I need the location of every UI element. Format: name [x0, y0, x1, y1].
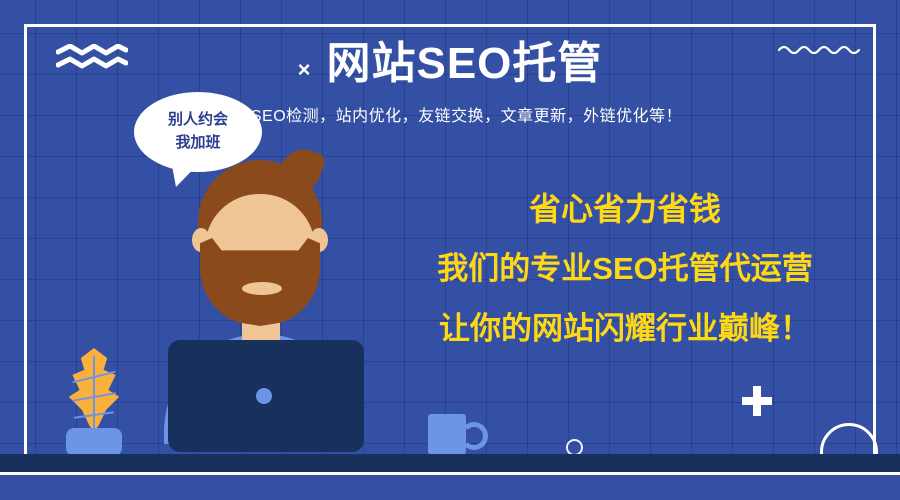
page-title: 网站SEO托管 — [326, 40, 602, 88]
plus-icon — [742, 386, 772, 416]
seo-hosting-banner: × 网站SEO托管 含：SEO检测，站内优化，友链交换，文章更新，外链优化等！ … — [0, 0, 900, 500]
plant-pot — [66, 428, 122, 456]
coffee-mug-handle — [460, 422, 488, 450]
potted-plant — [54, 348, 134, 456]
copy-line-1: 省心省力省钱 — [385, 190, 865, 228]
laptop-logo-dot — [256, 388, 272, 404]
speech-bubble-line-2: 我加班 — [134, 131, 262, 154]
marketing-copy: 省心省力省钱 我们的专业SEO托管代运营 让你的网站闪耀行业巅峰！ — [385, 190, 865, 347]
character-mouth — [242, 282, 282, 295]
desk-under-area — [0, 475, 900, 500]
copy-line-2: 我们的专业SEO托管代运营 — [385, 250, 865, 287]
close-x-icon: × — [298, 59, 311, 81]
title-row: × 网站SEO托管 — [0, 40, 900, 88]
copy-line-3: 让你的网站闪耀行业巅峰！ — [385, 310, 865, 347]
speech-bubble-text: 别人约会 我加班 — [134, 108, 262, 155]
speech-bubble-line-1: 别人约会 — [134, 108, 262, 131]
